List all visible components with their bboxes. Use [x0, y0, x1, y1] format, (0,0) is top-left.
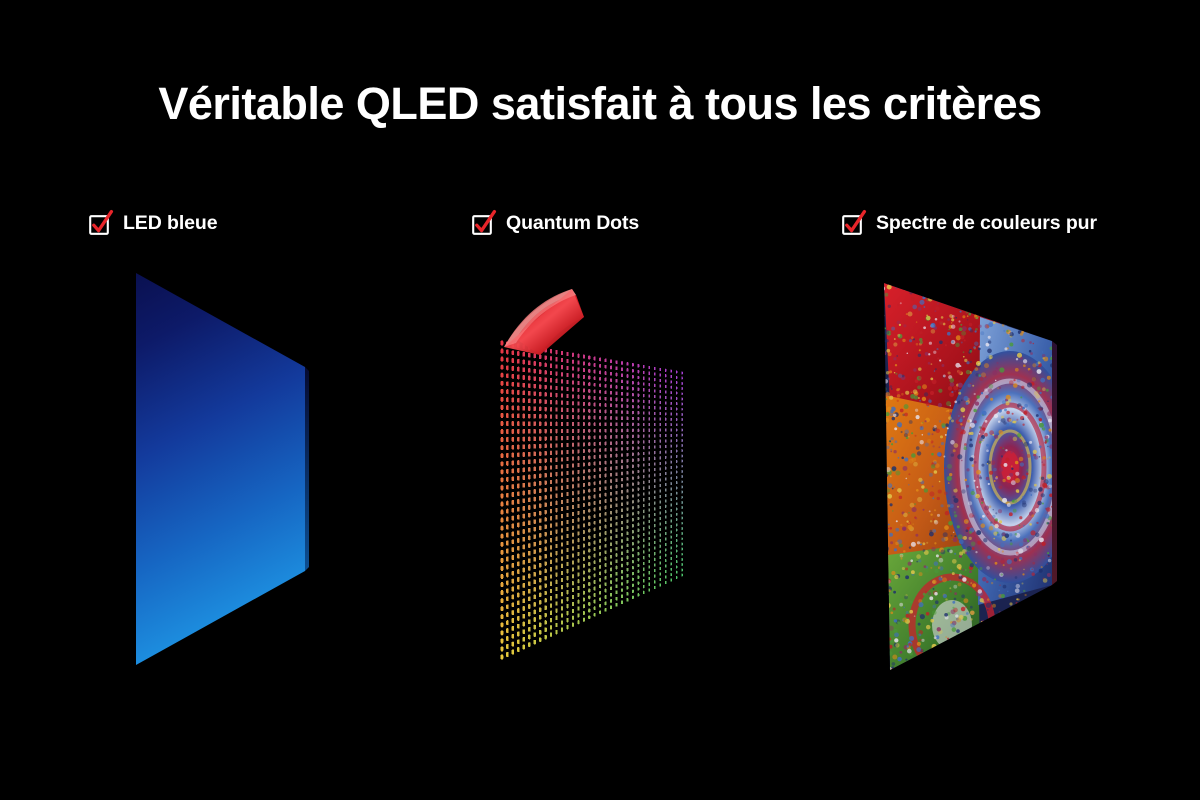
mandala-speckle [1020, 646, 1025, 651]
mandala-speckle [958, 400, 960, 402]
mandala-speckle [948, 386, 952, 390]
mandala-speckle [1001, 594, 1005, 598]
mandala-speckle [888, 528, 889, 529]
quantum-dot [523, 352, 525, 357]
quantum-dot [610, 454, 612, 458]
quantum-dot [539, 533, 541, 538]
mandala-speckle [1007, 477, 1010, 480]
quantum-dot [583, 449, 585, 453]
mandala-speckle [1051, 314, 1054, 317]
quantum-dot [534, 519, 536, 524]
quantum-dot [605, 557, 607, 561]
quantum-dot [523, 637, 525, 642]
quantum-dot [610, 473, 612, 477]
mandala-speckle [958, 420, 960, 422]
mandala-speckle [982, 601, 984, 603]
quantum-dot [506, 580, 509, 585]
mandala-speckle [883, 340, 885, 342]
mandala-speckle [926, 625, 931, 630]
quantum-dot [506, 477, 509, 482]
mandala-speckle [1051, 335, 1053, 337]
quantum-dot [534, 399, 536, 404]
mandala-speckle [1022, 496, 1024, 498]
quantum-dot [534, 602, 536, 607]
mandala-speckle [949, 284, 952, 287]
quantum-dot [512, 453, 515, 458]
quantum-dot [544, 414, 546, 418]
mandala-speckle [960, 423, 962, 425]
quantum-dot [681, 413, 683, 416]
quantum-dot [659, 434, 661, 437]
quantum-dot [654, 372, 656, 375]
mandala-speckle [986, 449, 989, 452]
quantum-dot [539, 593, 541, 598]
quantum-dot [539, 548, 541, 553]
mandala-speckle [924, 392, 928, 396]
quantum-dot [610, 498, 612, 502]
quantum-dot [588, 382, 590, 386]
quantum-dot [506, 556, 509, 561]
mandala-speckle [909, 291, 912, 294]
quantum-dot [523, 414, 525, 419]
mandala-speckle [947, 332, 951, 336]
mandala-speckle [934, 470, 938, 474]
quantum-dot [544, 444, 546, 448]
quantum-dot [594, 383, 596, 387]
mandala-speckle [894, 619, 897, 622]
mandala-speckle [891, 443, 893, 445]
mandala-speckle [895, 287, 897, 289]
quantum-dot [632, 572, 634, 575]
mandala-speckle [1047, 411, 1052, 416]
quantum-dot [659, 395, 661, 398]
mandala-speckle [1024, 594, 1026, 596]
mandala-speckle [1029, 523, 1032, 526]
quantum-dot [632, 447, 634, 450]
quantum-dot [517, 413, 520, 418]
quantum-dot [648, 577, 650, 580]
mandala-speckle [1015, 654, 1019, 658]
mandala-speckle [1008, 628, 1010, 630]
mandala-speckle [1021, 450, 1023, 452]
quantum-dot [544, 429, 546, 433]
quantum-dot [594, 495, 596, 499]
quantum-dot [550, 552, 552, 556]
mandala-speckle [1010, 567, 1013, 570]
quantum-dot [648, 537, 650, 540]
mandala-speckle [934, 569, 938, 573]
quantum-dot [648, 588, 650, 591]
quantum-dot [501, 646, 504, 651]
mandala-speckle [954, 498, 959, 503]
mandala-speckle [999, 486, 1003, 490]
mandala-speckle [979, 567, 982, 570]
mandala-speckle [1047, 635, 1049, 637]
quantum-dot [659, 572, 661, 575]
quantum-dot [665, 570, 667, 573]
mandala-speckle [947, 476, 952, 481]
mandala-speckle [908, 512, 910, 514]
quantum-dot [637, 476, 639, 479]
quantum-dot [501, 453, 504, 458]
quantum-dot [632, 369, 634, 372]
mandala-speckle [908, 525, 913, 530]
quantum-dot [648, 457, 650, 460]
quantum-dot [512, 492, 515, 497]
mandala-speckle [1025, 306, 1027, 308]
quantum-dot [648, 543, 650, 546]
quantum-dot [665, 396, 667, 399]
mandala-speckle [1006, 618, 1010, 622]
quantum-dot [670, 461, 672, 464]
mandala-speckle [918, 623, 921, 626]
mandala-speckle [980, 331, 984, 335]
mandala-speckle [978, 363, 980, 365]
quantum-dot [599, 487, 601, 491]
quantum-dot [594, 534, 596, 538]
mandala-speckle [1015, 552, 1019, 556]
quantum-dot [594, 396, 596, 400]
quantum-dot [659, 373, 661, 376]
mandala-speckle [1026, 473, 1029, 476]
mandala-speckle [895, 373, 897, 375]
quantum-dot [605, 480, 607, 484]
quantum-dot [528, 452, 530, 457]
quantum-dot [512, 618, 515, 623]
mandala-speckle [989, 384, 994, 389]
quantum-dot [616, 491, 618, 495]
quantum-dot [659, 379, 661, 382]
mandala-speckle [922, 296, 925, 299]
mandala-speckle [963, 396, 968, 401]
quantum-dot [643, 469, 645, 472]
mandala-speckle [1058, 626, 1061, 629]
quantum-dot [550, 523, 552, 527]
quantum-dot [659, 406, 661, 409]
mandala-speckle [919, 639, 922, 642]
quantum-dot [555, 601, 557, 605]
quantum-dot [637, 576, 639, 579]
quantum-dot [501, 365, 504, 370]
mandala-speckle [991, 582, 993, 584]
quantum-dot [637, 529, 639, 532]
quantum-dot [670, 466, 672, 469]
mandala-speckle [908, 312, 913, 317]
quantum-dot [594, 606, 596, 610]
checklist-item-label: Quantum Dots [506, 212, 639, 235]
quantum-dot [599, 422, 601, 426]
quantum-dot [539, 466, 541, 471]
mandala-speckle [1000, 316, 1002, 318]
quantum-dot [621, 551, 623, 555]
quantum-dot [577, 552, 579, 556]
mandala-speckle [892, 510, 894, 512]
quantum-dot [566, 394, 568, 398]
mandala-speckle [1004, 463, 1008, 467]
quantum-dot [648, 583, 650, 586]
quantum-dot [605, 595, 607, 599]
quantum-dot [506, 365, 509, 370]
quantum-dot [517, 593, 520, 598]
quantum-dot [670, 562, 672, 565]
mandala-speckle [957, 454, 962, 459]
mandala-speckle [949, 580, 951, 582]
mandala-speckle [1004, 286, 1007, 289]
mandala-speckle [893, 342, 897, 346]
quantum-dot [654, 563, 656, 566]
quantum-dot [517, 476, 520, 481]
quantum-dot [605, 563, 607, 567]
mandala-speckle [903, 318, 908, 323]
quantum-dot [621, 533, 623, 537]
quantum-dot [610, 391, 612, 395]
quantum-dot [594, 600, 596, 604]
mandala-speckle [899, 496, 903, 500]
quantum-dot [561, 358, 563, 362]
mandala-speckle [986, 477, 989, 480]
mandala-speckle [925, 291, 930, 296]
quantum-dot [517, 515, 520, 520]
quantum-dot [659, 539, 661, 542]
mandala-speckle [1036, 328, 1040, 332]
mandala-speckle [959, 574, 962, 577]
quantum-dot [539, 600, 541, 605]
quantum-dot [566, 534, 568, 538]
mandala-speckle [1035, 604, 1037, 606]
mandala-speckle [881, 403, 886, 408]
quantum-dot [577, 395, 579, 399]
mandala-speckle [943, 456, 945, 458]
mandala-speckle [981, 621, 983, 623]
mandala-speckle [1040, 609, 1045, 614]
quantum-dot [637, 417, 639, 420]
quantum-dot [665, 532, 667, 535]
quantum-dot [665, 537, 667, 540]
quantum-dot [506, 373, 509, 378]
quantum-dot [506, 509, 509, 514]
quantum-dot [501, 630, 504, 635]
mandala-speckle [1055, 318, 1058, 321]
quantum-dot [561, 479, 563, 483]
mandala-speckle [882, 332, 885, 335]
mandala-speckle [1041, 643, 1044, 646]
quantum-dot [676, 460, 678, 463]
mandala-speckle [1018, 549, 1023, 554]
mandala-speckle [977, 541, 981, 545]
quantum-dot [512, 484, 515, 489]
quantum-dot [616, 584, 618, 588]
quantum-dot [588, 589, 590, 593]
quantum-dot [588, 595, 590, 599]
mandala-speckle [992, 293, 995, 296]
quantum-dot [572, 595, 574, 599]
mandala-speckle [904, 433, 908, 437]
quantum-dot [643, 487, 645, 490]
mandala-speckle [1038, 319, 1041, 322]
mandala-speckle [975, 634, 979, 638]
mandala-speckle [1013, 315, 1017, 319]
mandala-speckle [1011, 423, 1015, 427]
quantum-dot [643, 579, 645, 582]
quantum-dot [555, 429, 557, 433]
mandala-speckle [953, 488, 957, 492]
mandala-speckle [890, 449, 892, 451]
mandala-speckle [961, 670, 964, 673]
quantum-dot [659, 506, 661, 509]
quantum-dot [632, 375, 634, 378]
quantum-dot [588, 455, 590, 459]
quantum-dot [523, 560, 525, 565]
mandala-speckle [970, 438, 973, 441]
quantum-dot [627, 525, 629, 529]
quantum-dot [583, 577, 585, 581]
quantum-dot [539, 377, 541, 382]
quantum-dot [572, 450, 574, 454]
quantum-dot [544, 436, 546, 440]
quantum-dot [632, 399, 634, 402]
mandala-speckle [1042, 290, 1045, 293]
quantum-dot [654, 496, 656, 499]
quantum-dot [627, 386, 629, 390]
quantum-dot [648, 548, 650, 551]
mandala-speckle [971, 628, 974, 631]
mandala-speckle [957, 370, 961, 374]
quantum-dot [572, 526, 574, 530]
quantum-dot [659, 523, 661, 526]
quantum-dot [627, 483, 629, 487]
mandala-speckle [987, 293, 989, 295]
mandala-speckle [1028, 653, 1031, 656]
mandala-speckle [987, 349, 992, 354]
mandala-speckle [1029, 441, 1032, 444]
mandala-speckle [954, 390, 956, 392]
mandala-speckle [928, 297, 933, 302]
quantum-dot [506, 588, 509, 593]
mandala-speckle [958, 534, 963, 539]
mandala-speckle [1037, 501, 1042, 506]
quantum-dot [665, 418, 667, 421]
quantum-dot [643, 452, 645, 455]
quantum-dot [621, 582, 623, 586]
quantum-dot [528, 444, 530, 449]
quantum-dot [550, 422, 552, 426]
quantum-dot [654, 412, 656, 415]
mandala-speckle [899, 425, 902, 428]
quantum-dot [566, 590, 568, 594]
mandala-speckle [1035, 394, 1040, 399]
mandala-speckle [1013, 437, 1018, 442]
mandala-speckle [1043, 318, 1045, 320]
quantum-dot [506, 628, 509, 633]
mandala-speckle [1008, 305, 1011, 308]
mandala-speckle [1030, 293, 1033, 296]
mandala-speckle [952, 559, 957, 564]
mandala-speckle [1023, 316, 1028, 321]
quantum-dot [528, 475, 530, 480]
mandala-speckle [894, 548, 897, 551]
quantum-dot [605, 378, 607, 382]
quantum-dot [539, 481, 541, 486]
mandala-speckle [1024, 608, 1029, 613]
quantum-dot [610, 429, 612, 433]
quantum-dot [577, 436, 579, 440]
mandala-speckle [1016, 653, 1018, 655]
quantum-dot [643, 562, 645, 565]
quantum-dot [665, 559, 667, 562]
mandala-speckle [924, 565, 927, 568]
quantum-dot [555, 364, 557, 368]
mandala-speckle [1031, 472, 1033, 474]
quantum-dot [643, 371, 645, 374]
mandala-speckle [979, 426, 982, 429]
quantum-dot [539, 518, 541, 523]
mandala-speckle [969, 350, 972, 353]
mandala-speckle [986, 307, 990, 311]
quantum-dot [577, 600, 579, 604]
mandala-speckle [884, 647, 886, 649]
quantum-dot [517, 491, 520, 496]
mandala-speckle [976, 648, 980, 652]
mandala-speckle [926, 316, 931, 321]
mandala-speckle [944, 525, 949, 530]
quantum-dot [555, 371, 557, 375]
quantum-dot [583, 355, 585, 359]
mandala-speckle [1023, 359, 1027, 363]
quantum-dot [566, 569, 568, 573]
quantum-dot [555, 415, 557, 419]
mandala-speckle [979, 488, 982, 491]
color-spectrum-panel [860, 255, 1120, 685]
mandala-speckle [1010, 669, 1012, 671]
mandala-speckle [901, 457, 904, 460]
mandala-speckle [930, 567, 932, 569]
mandala-speckle [884, 488, 887, 491]
quantum-dot [523, 475, 525, 480]
mandala-speckle [954, 514, 957, 517]
quantum-dot [550, 356, 552, 360]
quantum-dot [627, 592, 629, 596]
mandala-speckle [1011, 480, 1016, 485]
mandala-speckle [939, 659, 944, 664]
mandala-speckle [882, 314, 884, 316]
mandala-speckle [911, 542, 916, 547]
mandala-speckle [913, 368, 916, 371]
mandala-speckle [918, 478, 922, 482]
mandala-speckle [1019, 278, 1024, 283]
quantum-dot [572, 477, 574, 481]
mandala-speckle [893, 357, 896, 360]
quantum-dot [643, 544, 645, 547]
mandala-speckle [1016, 282, 1019, 285]
quantum-dot [637, 399, 639, 402]
quantum-dot [670, 578, 672, 581]
quantum-dot [506, 612, 509, 617]
mandala-speckle [1041, 477, 1044, 480]
quantum-dot [501, 526, 504, 531]
mandala-speckle [920, 422, 922, 424]
mandala-speckle [994, 435, 998, 439]
quantum-dot [627, 568, 629, 572]
mandala-speckle [969, 457, 973, 461]
quantum-dot [539, 451, 541, 456]
mandala-speckle [1049, 304, 1052, 307]
quantum-dot [594, 403, 596, 407]
mandala-speckle [888, 305, 891, 308]
mandala-speckle [999, 386, 1002, 389]
quantum-dot [583, 382, 585, 386]
mandala-speckle [882, 351, 886, 355]
mandala-speckle [1037, 636, 1042, 641]
